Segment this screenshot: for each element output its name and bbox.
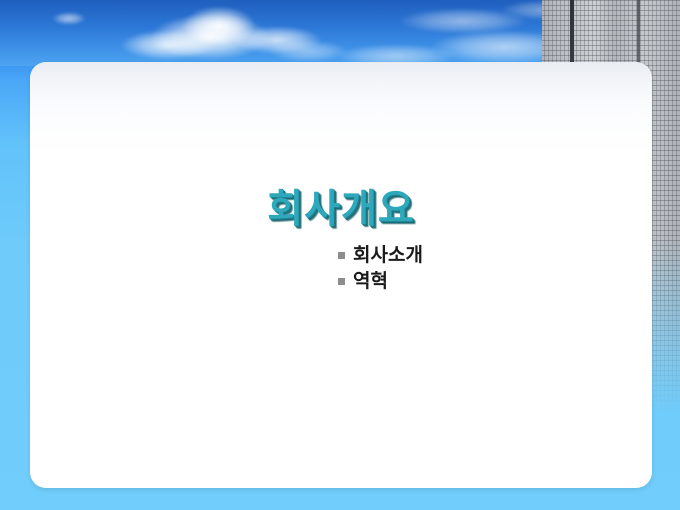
presentation-slide: 회사개요 회사소개 역혁 — [0, 0, 680, 510]
list-item-label: 회사소개 — [353, 244, 423, 267]
cloud-icon — [52, 12, 86, 25]
list-item-label: 역혁 — [353, 270, 388, 293]
slide-content-panel: 회사개요 회사소개 역혁 — [30, 62, 652, 488]
cloud-icon — [120, 30, 216, 60]
cloud-icon — [268, 40, 348, 62]
list-item[interactable]: 회사소개 — [338, 244, 423, 267]
square-bullet-icon — [338, 278, 345, 285]
list-item[interactable]: 역혁 — [338, 270, 423, 293]
square-bullet-icon — [338, 252, 345, 259]
slide-bullet-list: 회사소개 역혁 — [338, 244, 423, 296]
slide-title: 회사개요 — [30, 178, 652, 234]
